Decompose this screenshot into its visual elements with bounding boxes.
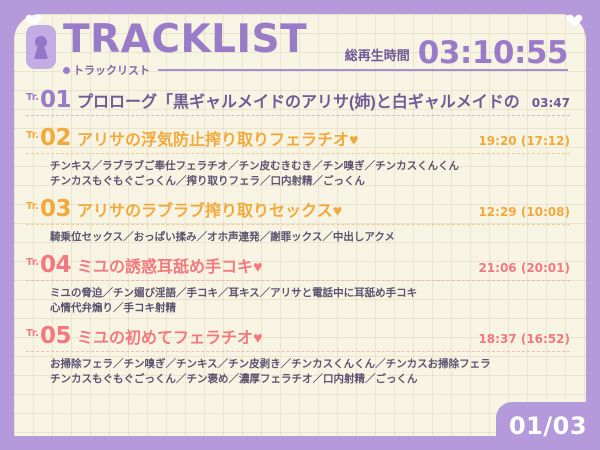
track-prefix: Tr. — [26, 201, 39, 212]
track-number: 03 — [40, 198, 71, 221]
track-divider — [26, 115, 570, 116]
track-title: ミユの誘惑耳舐め手コキ♥ — [77, 253, 263, 277]
tracklist-page: TRACKLIST トラックリスト 総再生時間 03:10:55 Tr. 0 — [14, 14, 586, 436]
track-tag-line: チンカスもぐもぐごっくん／チン褒め／濃厚フェラチオ／口内射精／ごっくん — [50, 372, 570, 387]
track-title: アリサの浮気防止搾り取りフェラチオ♥ — [77, 126, 359, 150]
track-row[interactable]: Tr. 05 ミユの初めてフェラチオ♥ 18:37 (16:52) お掃除フェラ… — [26, 324, 570, 394]
track-tags — [26, 116, 570, 125]
track-title: アリサのラブラブ搾り取りセックス♥ — [77, 197, 342, 221]
page-indicator-value: 01/03 — [509, 412, 587, 440]
track-number: 04 — [40, 254, 71, 277]
heart-decoration-top-left — [24, 10, 37, 22]
page-indicator: 01/03 — [496, 402, 600, 450]
track-divider — [26, 351, 570, 352]
page-subtitle: トラックリスト — [73, 62, 150, 78]
track-tag-line: ミユの脅迫／チン媚び淫語／手コキ／耳キス／アリサと電話中に耳舐め手コキ — [50, 286, 570, 301]
track-number: 02 — [40, 127, 71, 150]
track-tags: お掃除フェラ／チン嗅ぎ／チンキス／チン皮剥き／チンカスくんくん／チンカスお掃除フ… — [26, 352, 570, 394]
track-row[interactable]: Tr. 01 プロローグ「黒ギャルメイドのアリサ(姉)と白ギャルメイドのミユ(妹… — [26, 88, 570, 125]
total-playtime: 総再生時間 03:10:55 — [345, 38, 568, 69]
track-tags: ミユの脅迫／チン媚び淫語／手コキ／耳キス／アリサと電話中に耳舐め手コキ 心情代弁… — [26, 281, 570, 323]
keyhole-icon — [26, 25, 56, 69]
track-duration: 21:06 (20:01) — [468, 261, 570, 275]
track-tag-line: 心情代弁煽り／手コキ射精 — [50, 301, 570, 316]
track-number: 01 — [40, 89, 71, 112]
track-tags: チンキス／ラブラブご奉仕フェラチオ／チン皮むきむき／チン嗅ぎ／チンカスくんくん … — [26, 154, 570, 196]
track-list: Tr. 01 プロローグ「黒ギャルメイドのアリサ(姉)と白ギャルメイドのミユ(妹… — [14, 88, 586, 394]
track-prefix: Tr. — [26, 257, 39, 268]
track-number: 05 — [40, 325, 71, 348]
track-divider — [26, 224, 570, 225]
track-tag-line: チンキス／ラブラブご奉仕フェラチオ／チン皮むきむき／チン嗅ぎ／チンカスくんくん — [50, 159, 570, 174]
track-divider — [26, 280, 570, 281]
tracklist-frame: TRACKLIST トラックリスト 総再生時間 03:10:55 Tr. 0 — [0, 0, 600, 450]
track-duration: 03:47 — [522, 96, 570, 110]
bullet-icon — [63, 67, 70, 74]
track-row[interactable]: Tr. 04 ミユの誘惑耳舐め手コキ♥ 21:06 (20:01) ミユの脅迫／… — [26, 253, 570, 323]
track-title: プロローグ「黒ギャルメイドのアリサ(姉)と白ギャルメイドのミユ(妹)」 — [77, 88, 522, 112]
total-playtime-value: 03:10:55 — [418, 38, 568, 69]
track-tag-line: チンカスもぐもぐごっくん／搾り取りフェラ／口内射精／ごっくん — [50, 174, 570, 189]
total-playtime-label: 総再生時間 — [345, 45, 410, 64]
track-title: ミユの初めてフェラチオ♥ — [77, 324, 263, 348]
track-prefix: Tr. — [26, 130, 39, 141]
track-prefix: Tr. — [26, 92, 39, 103]
track-duration: 12:29 (10:08) — [468, 205, 570, 219]
track-divider — [26, 153, 570, 154]
track-row[interactable]: Tr. 02 アリサの浮気防止搾り取りフェラチオ♥ 19:20 (17:12) … — [26, 126, 570, 196]
track-tags: 騎乗位セックス／おっぱい揉み／オホ声連発／謝罪ックス／中出しアクメ — [26, 225, 570, 252]
heart-decoration-top-right — [565, 10, 578, 22]
track-duration: 18:37 (16:52) — [468, 332, 570, 346]
track-tag-line: お掃除フェラ／チン嗅ぎ／チンキス／チン皮剥き／チンカスくんくん／チンカスお掃除フ… — [50, 357, 570, 372]
track-row[interactable]: Tr. 03 アリサのラブラブ搾り取りセックス♥ 12:29 (10:08) 騎… — [26, 197, 570, 252]
track-tag-line: 騎乗位セックス／おっぱい揉み／オホ声連発／謝罪ックス／中出しアクメ — [50, 230, 570, 245]
track-prefix: Tr. — [26, 328, 39, 339]
page-header: TRACKLIST トラックリスト 総再生時間 03:10:55 — [14, 14, 586, 88]
track-duration: 19:20 (17:12) — [468, 134, 570, 148]
